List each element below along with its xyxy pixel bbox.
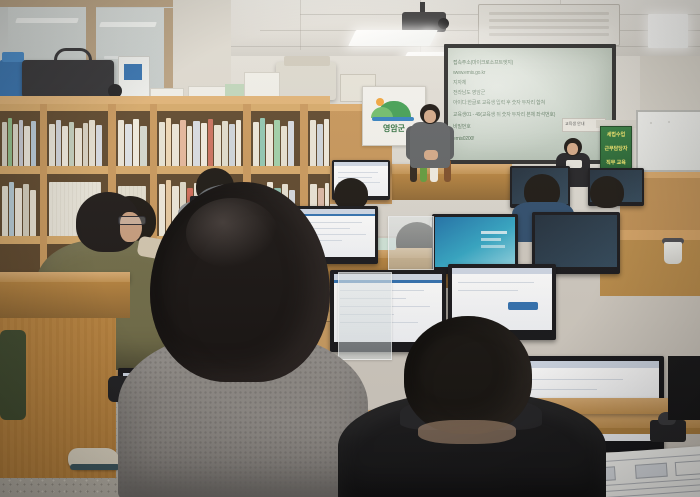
- shelf-cell: [47, 111, 108, 166]
- printer-lid: [284, 56, 330, 66]
- projection-screen: 접속주소(마이크로소프트엣지) www.emis.go.kr 지자체 전라남도 …: [448, 48, 612, 160]
- shelf-cell: [157, 111, 243, 166]
- eyeglasses-icon: [118, 216, 146, 225]
- logo-wave-icon: [372, 117, 414, 121]
- equipment-cabinet: [668, 356, 700, 420]
- slide-line: 교육생01 - 49(교육생 뒤 숫자 두자리 본체 좌석번호): [453, 112, 555, 118]
- banner-line: 세법수업: [601, 132, 631, 138]
- shelf-cell: [251, 111, 300, 166]
- desk: [0, 272, 130, 282]
- blue-storage-box: [2, 52, 24, 62]
- wall-segment: [173, 0, 231, 100]
- ceiling-light-panel: [348, 30, 438, 46]
- instructor-hands: [424, 150, 438, 160]
- shelf-cell: [0, 111, 40, 166]
- desk-front: [0, 282, 130, 318]
- shelf-cell: [308, 111, 330, 166]
- binder-label: [124, 64, 142, 80]
- desk-privacy-divider: [388, 216, 434, 270]
- black-briefcase: [22, 60, 114, 98]
- wall-notice-text: 교육생 안내: [565, 121, 585, 127]
- slide-line: www.emis.go.kr: [453, 70, 485, 76]
- shoe-sole: [70, 464, 120, 470]
- classroom-photo: 접속주소(마이크로소프트엣지) www.emis.go.kr 지자체 전라남도 …: [0, 0, 700, 497]
- wall-whiteboard: [636, 110, 700, 172]
- slide-line: 지자체: [453, 80, 466, 86]
- presenter-face: [567, 143, 578, 155]
- neck: [418, 420, 516, 444]
- instructor-face: [424, 110, 436, 123]
- slide-line: 아이디:한글로 교육생 입력 후 숫자 두자리 합쳐: [453, 100, 545, 106]
- shelf-cell: [0, 174, 40, 236]
- slide-line: 접속주소(마이크로소프트엣지): [453, 60, 513, 66]
- banner-line: 근무담당자: [601, 146, 631, 152]
- slide-line: emis0200!: [453, 136, 474, 142]
- desk-privacy-divider: [338, 272, 392, 360]
- hair-highlight: [186, 198, 278, 268]
- instructor-body: [410, 122, 450, 168]
- chair[interactable]: [0, 330, 26, 420]
- ceiling-light-panel: [648, 14, 688, 48]
- student-head: [590, 176, 624, 208]
- student-front-man-head: [404, 316, 532, 434]
- banner-line: 직무 교육: [601, 160, 631, 166]
- slide-line: 전라남도 영암군: [453, 90, 485, 96]
- paper-cup: [664, 242, 682, 264]
- printer: [276, 62, 336, 100]
- bookshelf-top: [0, 96, 330, 104]
- shelf-cell: [116, 111, 150, 166]
- slide-line: 비밀번호: [453, 124, 471, 130]
